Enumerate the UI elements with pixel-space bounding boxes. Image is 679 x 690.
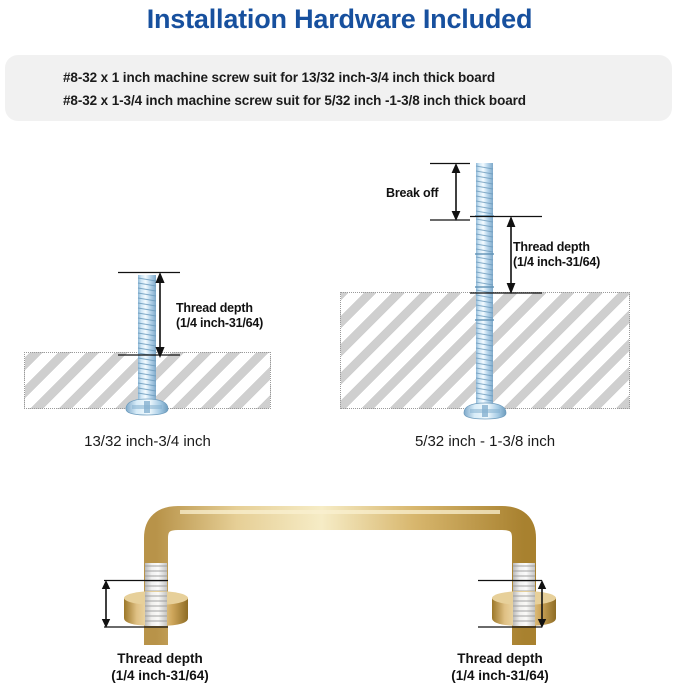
caption-left: 13/32 inch-3/4 inch: [24, 433, 271, 450]
thread-depth-label-right: Thread depth (1/4 inch-31/64): [513, 240, 600, 270]
dimension-ticks-handle-right: [478, 578, 544, 630]
thread-depth-label-left-line2: (1/4 inch-31/64): [176, 316, 263, 331]
thread-depth-label-right-line1: Thread depth: [513, 240, 600, 255]
page-title: Installation Hardware Included: [0, 2, 679, 36]
handle-label-left: Thread depth (1/4 inch-31/64): [60, 650, 260, 684]
spec-box: #8-32 x 1 inch machine screw suit for 13…: [5, 55, 672, 121]
spec-line-1: #8-32 x 1 inch machine screw suit for 13…: [63, 70, 495, 85]
handle-label-left-line1: Thread depth: [60, 650, 260, 667]
handle-label-right: Thread depth (1/4 inch-31/64): [400, 650, 600, 684]
spec-line-2: #8-32 x 1-3/4 inch machine screw suit fo…: [63, 93, 526, 108]
break-off-label: Break off: [386, 186, 438, 201]
title-bar: Installation Hardware Included: [0, 2, 679, 36]
caption-right: 5/32 inch - 1-3/8 inch: [340, 433, 630, 450]
dimension-ticks-left: [118, 270, 183, 360]
handle-label-right-line2: (1/4 inch-31/64): [400, 667, 600, 684]
thread-depth-label-left: Thread depth (1/4 inch-31/64): [176, 301, 263, 331]
product-infographic: Installation Hardware Included #8-32 x 1…: [0, 0, 679, 690]
handle-label-right-line1: Thread depth: [400, 650, 600, 667]
thread-depth-label-right-line2: (1/4 inch-31/64): [513, 255, 600, 270]
thread-depth-label-left-line1: Thread depth: [176, 301, 263, 316]
handle-label-left-line2: (1/4 inch-31/64): [60, 667, 260, 684]
dimension-ticks-handle-left: [104, 578, 170, 630]
